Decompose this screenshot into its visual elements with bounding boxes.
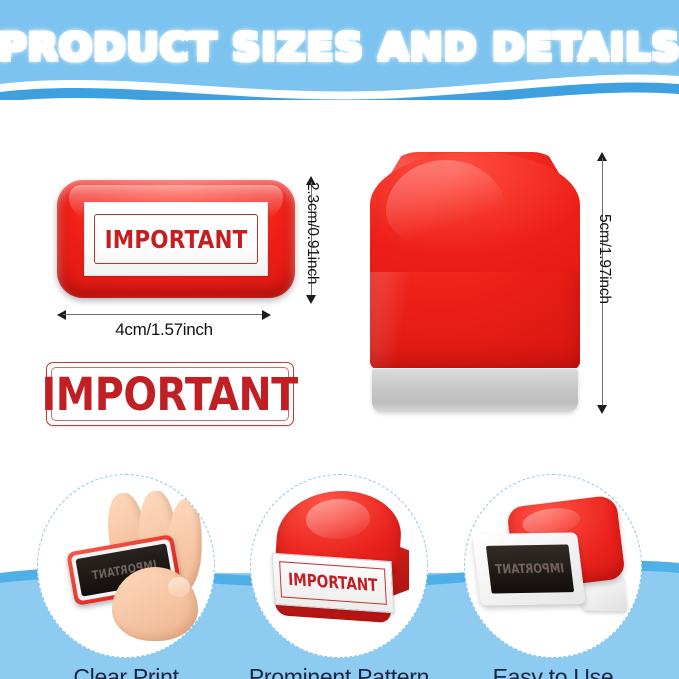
thumbnail bbox=[168, 577, 190, 597]
stamp-side-view bbox=[370, 152, 580, 414]
angled-stamp-illustration: IMPORTANT bbox=[265, 491, 415, 641]
page-title-wrap: PRODUCT SIZES AND DETAILS bbox=[0, 26, 679, 69]
dimension-top-width: 4cm/1.57inch bbox=[57, 306, 271, 340]
feature-clear-print: IMPORTANT Clear Print bbox=[28, 474, 224, 658]
arrow-down-icon bbox=[306, 295, 316, 304]
header-wave-divider bbox=[0, 68, 679, 100]
tilted-stamp-illustration: IMPORTANT bbox=[477, 501, 635, 627]
feature-image-bubble: IMPORTANT bbox=[250, 474, 428, 658]
feature-easy-to-use: IMPORTANT Easy to Use bbox=[455, 474, 651, 658]
feature-prominent-pattern: IMPORTANT Prominent Pattern bbox=[241, 474, 437, 658]
page-title: PRODUCT SIZES AND DETAILS bbox=[0, 26, 679, 69]
feature-image-bubble: IMPORTANT bbox=[464, 474, 642, 658]
header-banner: PRODUCT SIZES AND DETAILS bbox=[0, 0, 679, 100]
stamp-tilted-die: IMPORTANT bbox=[486, 544, 574, 593]
feature-label: Clear Print bbox=[16, 664, 236, 679]
feature-label: Easy to Use bbox=[443, 664, 663, 679]
infographic-canvas: PRODUCT SIZES AND DETAILS IMPORTANT 2.3c… bbox=[0, 0, 679, 679]
dimension-side-height-label: 5cm/1.97inch bbox=[595, 214, 613, 304]
stamp-impression: IMPORTANT bbox=[46, 362, 294, 426]
die-text: IMPORTANT bbox=[495, 561, 566, 577]
dimension-top-width-label: 4cm/1.57inch bbox=[57, 320, 271, 340]
arrow-down-icon bbox=[597, 405, 607, 414]
arrow-right-icon bbox=[262, 310, 271, 320]
thumb bbox=[112, 567, 198, 641]
stamp-angled-label-panel: IMPORTANT bbox=[272, 553, 395, 614]
stamp-top-view: IMPORTANT bbox=[57, 180, 295, 298]
stamp-side-dome bbox=[370, 152, 580, 272]
stamp-top-label-panel: IMPORTANT bbox=[84, 202, 268, 276]
feature-row: IMPORTANT Clear Print bbox=[0, 474, 679, 679]
dimension-top-height: 2.3cm/0.91inch bbox=[303, 176, 321, 304]
dimension-top-height-label: 2.3cm/0.91inch bbox=[303, 182, 321, 284]
stamp-side-base bbox=[372, 368, 578, 412]
dimension-line bbox=[63, 314, 265, 315]
feature-image-bubble: IMPORTANT bbox=[37, 474, 215, 658]
feature-label: Prominent Pattern bbox=[229, 664, 449, 679]
dimension-side-height: 5cm/1.97inch bbox=[594, 152, 614, 414]
impression-text: IMPORTANT bbox=[42, 372, 298, 417]
stamp-angled-highlight bbox=[305, 499, 372, 539]
stamp-tilted-base: IMPORTANT bbox=[472, 532, 585, 605]
stamp-top-label-text: IMPORTANT bbox=[105, 227, 248, 252]
stamp-top-label-border: IMPORTANT bbox=[94, 214, 258, 264]
hand-illustration: IMPORTANT bbox=[60, 489, 210, 649]
